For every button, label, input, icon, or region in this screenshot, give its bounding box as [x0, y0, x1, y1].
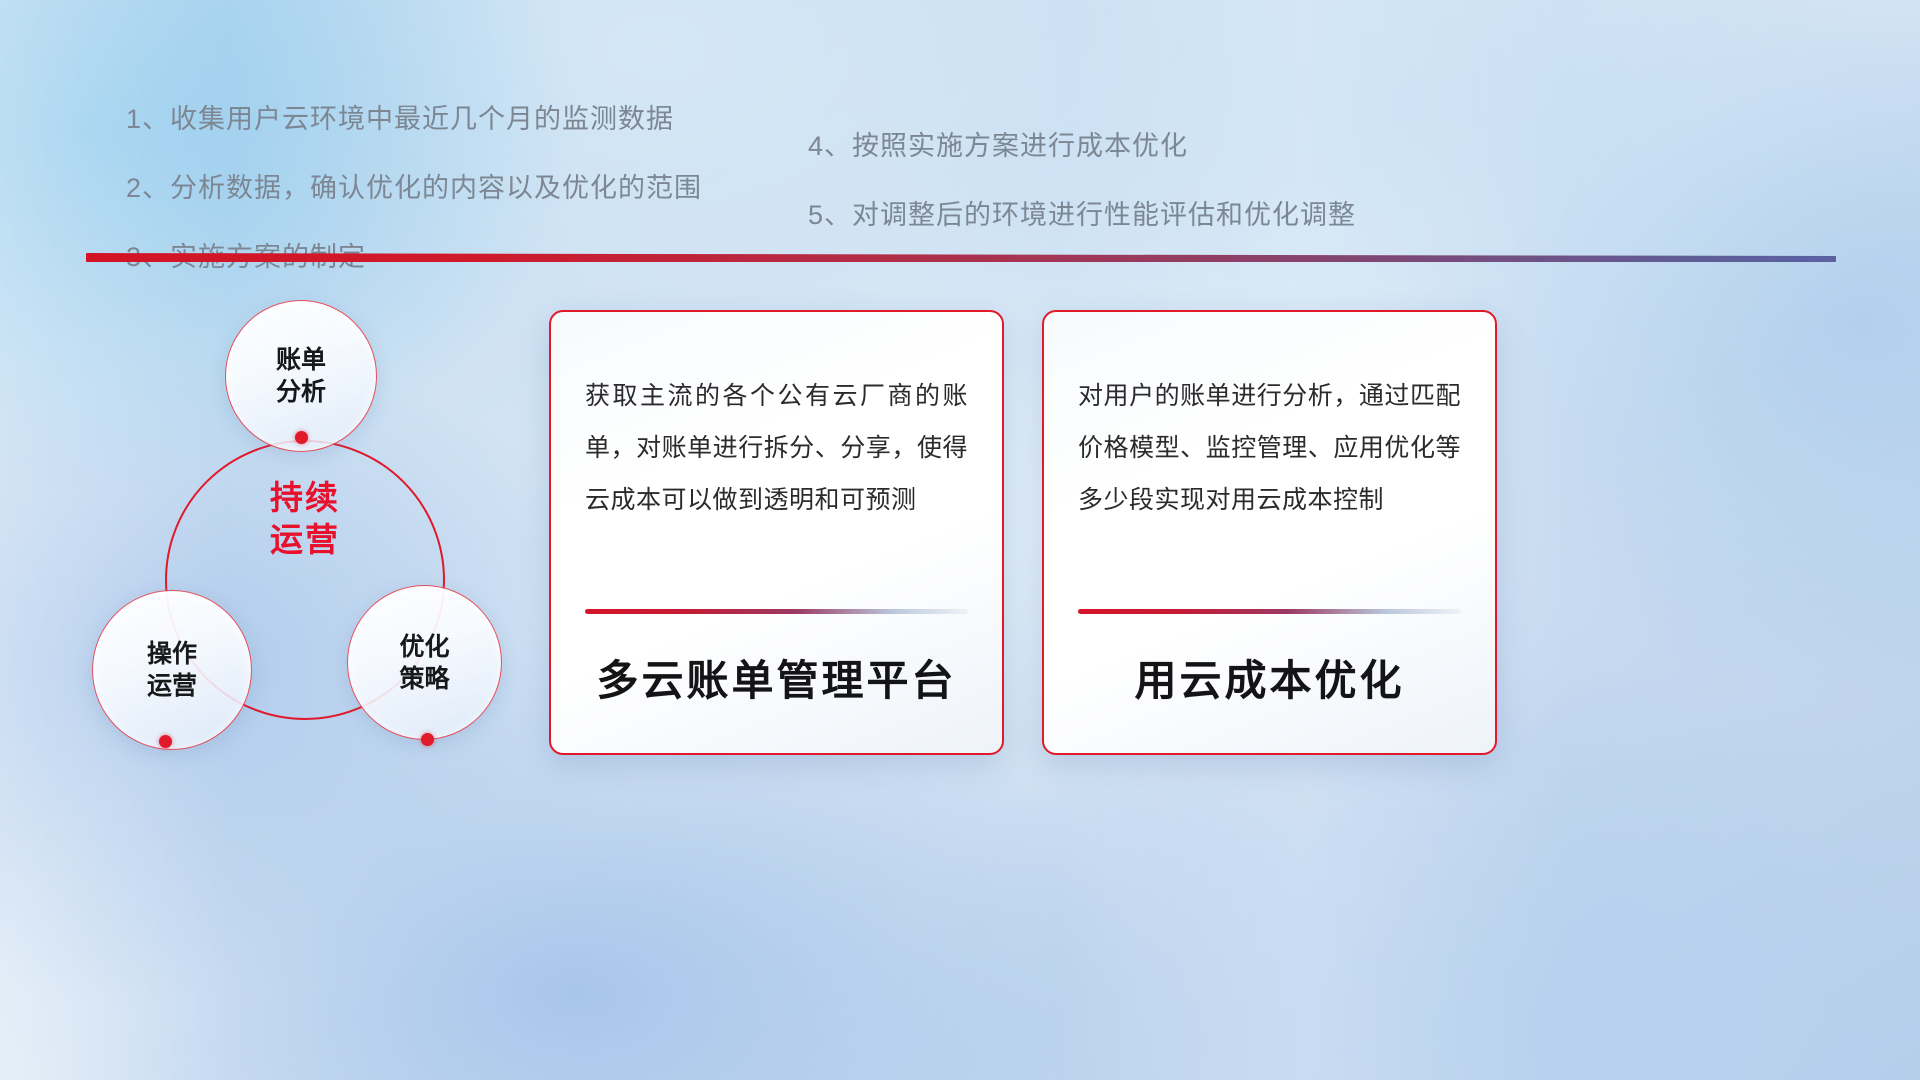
node-connector-dot-right [421, 733, 434, 746]
node-connector-dot-top [295, 431, 308, 444]
center-label-line-2: 运营 [165, 519, 445, 561]
diagram-node-operations[interactable]: 操作 运营 [92, 590, 252, 750]
card-1-title: 多云账单管理平台 [551, 647, 1002, 708]
card-2-body: 对用户的账单进行分析，通过匹配价格模型、监控管理、应用优化等多少段实现对用云成本… [1078, 370, 1461, 526]
feature-card-cloud-cost-optimization[interactable]: 对用户的账单进行分析，通过匹配价格模型、监控管理、应用优化等多少段实现对用云成本… [1042, 310, 1497, 755]
card-2-rule [1078, 609, 1461, 614]
steps-list-right: 4、按照实施方案进行成本优化 5、对调整后的环境进行性能评估和优化调整 [808, 124, 1356, 262]
feature-card-multicloud-billing[interactable]: 获取主流的各个公有云厂商的账单，对账单进行拆分、分享，使得云成本可以做到透明和可… [549, 310, 1004, 755]
center-label-line-1: 持续 [165, 477, 445, 519]
bubble-right-line-1: 优化 [399, 631, 449, 663]
bubble-top-line-2: 分析 [276, 376, 326, 408]
venn-diagram: 持续 运营 账单 分析 操作 运营 优化 策略 [80, 285, 520, 775]
step-item-4: 4、按照实施方案进行成本优化 [808, 124, 1356, 163]
diagram-center-label: 持续 运营 [165, 477, 445, 561]
node-connector-dot-left [159, 735, 172, 748]
bubble-right-line-2: 策略 [399, 663, 449, 695]
bubble-top-line-1: 账单 [276, 344, 326, 376]
card-2-title: 用云成本优化 [1044, 647, 1495, 708]
bubble-left-line-1: 操作 [147, 638, 197, 670]
steps-list-left: 1、收集用户云环境中最近几个月的监测数据 2、分析数据，确认优化的内容以及优化的… [126, 97, 702, 304]
diagram-node-optimization-strategy[interactable]: 优化 策略 [347, 585, 502, 740]
step-item-1: 1、收集用户云环境中最近几个月的监测数据 [126, 97, 702, 136]
slide-canvas: 1、收集用户云环境中最近几个月的监测数据 2、分析数据，确认优化的内容以及优化的… [0, 0, 1920, 1080]
diagram-node-bill-analysis[interactable]: 账单 分析 [225, 300, 377, 452]
bubble-left-line-2: 运营 [147, 670, 197, 702]
step-item-5: 5、对调整后的环境进行性能评估和优化调整 [808, 193, 1356, 232]
card-1-body: 获取主流的各个公有云厂商的账单，对账单进行拆分、分享，使得云成本可以做到透明和可… [585, 370, 968, 526]
card-1-rule [585, 609, 968, 614]
step-item-2: 2、分析数据，确认优化的内容以及优化的范围 [126, 166, 702, 205]
